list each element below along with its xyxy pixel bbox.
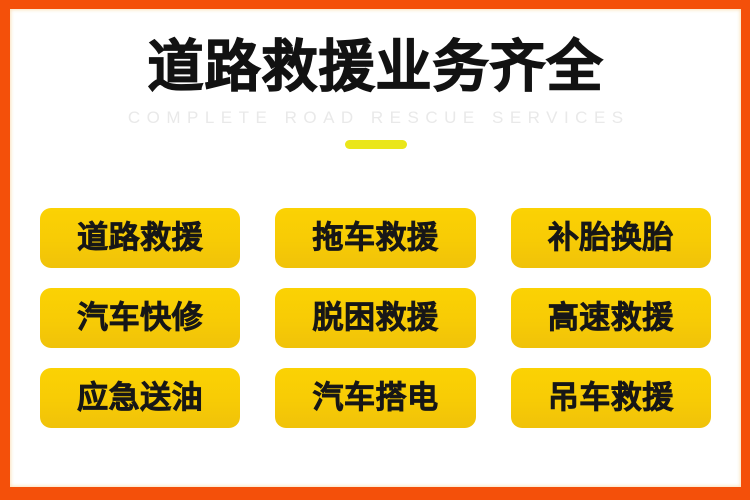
service-chip-highway-rescue[interactable]: 高速救援 — [511, 288, 711, 348]
service-chip-car-jump-start[interactable]: 汽车搭电 — [275, 368, 475, 428]
page-subtitle: COMPLETE ROAD RESCUE SERVICES — [10, 99, 741, 128]
service-chip-crane-rescue[interactable]: 吊车救援 — [511, 368, 711, 428]
service-chip-extrication-rescue[interactable]: 脱困救援 — [275, 288, 475, 348]
service-chip-label: 汽车搭电 — [312, 381, 438, 415]
service-chip-road-rescue[interactable]: 道路救援 — [40, 208, 240, 268]
service-chip-grid: 道路救援 拖车救援 补胎换胎 汽车快修 脱困救援 高速救援 应急送油 汽车搭电 — [40, 208, 711, 428]
service-chip-label: 吊车救援 — [548, 381, 674, 415]
header: 道路救援业务齐全 COMPLETE ROAD RESCUE SERVICES — [10, 9, 741, 149]
service-chip-emergency-fuel-delivery[interactable]: 应急送油 — [40, 368, 240, 428]
service-chip-label: 应急送油 — [77, 381, 203, 415]
service-chip-label: 脱困救援 — [312, 301, 438, 335]
accent-underline — [345, 140, 407, 149]
service-chip-label: 补胎换胎 — [548, 221, 674, 255]
service-chip-label: 拖车救援 — [312, 221, 438, 255]
service-chip-label: 汽车快修 — [77, 301, 203, 335]
poster-canvas: 道路救援业务齐全 COMPLETE ROAD RESCUE SERVICES 道… — [10, 9, 741, 487]
poster-frame: 道路救援业务齐全 COMPLETE ROAD RESCUE SERVICES 道… — [0, 0, 750, 500]
service-chip-label: 高速救援 — [548, 301, 674, 335]
service-chip-label: 道路救援 — [77, 221, 203, 255]
service-chip-tire-repair-replacement[interactable]: 补胎换胎 — [511, 208, 711, 268]
service-chip-tow-truck-rescue[interactable]: 拖车救援 — [275, 208, 475, 268]
page-title: 道路救援业务齐全 — [10, 9, 741, 99]
service-chip-quick-car-repair[interactable]: 汽车快修 — [40, 288, 240, 348]
